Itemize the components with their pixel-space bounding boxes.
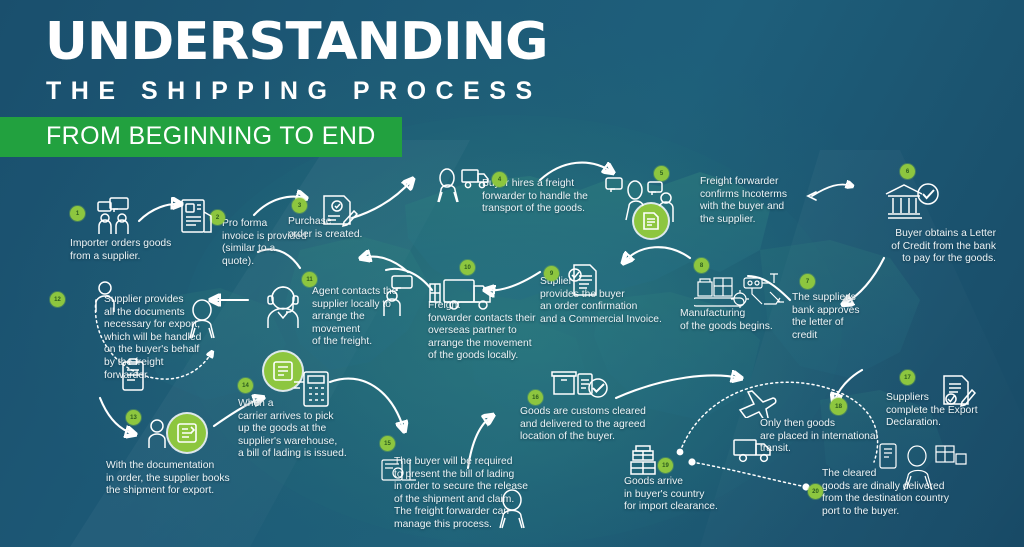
header: UNDERSTANDING THE SHIPPING PROCESS FROM …	[0, 0, 542, 157]
order-confirmation-icon	[566, 262, 602, 300]
step-19[interactable]: 19 Goods arrive in buyer's country for i…	[624, 442, 754, 514]
booking-shipment-icon	[168, 414, 206, 452]
person-truck-icon	[430, 160, 492, 204]
step-text-7: The supplier's bank approves the letter …	[792, 292, 884, 342]
step-10[interactable]: 10 Freight forwarder contacts their over…	[428, 262, 550, 363]
step-text-16: Goods are customs cleared and delivered …	[520, 406, 670, 444]
agent-headset-icon	[262, 282, 306, 330]
step-text-6: Buyer obtains a Letter of Credit from th…	[824, 228, 996, 266]
forwarder-person-icon	[494, 488, 530, 530]
step-20[interactable]: 20 The cleared goods are dinally deliver…	[808, 456, 986, 518]
supplier-booking-person-icon	[144, 418, 170, 450]
step-badge-15: 15	[380, 436, 395, 451]
step-text-9: Suplier provides the buyer an order conf…	[540, 276, 690, 326]
tagline: FROM BEGINNING TO END	[46, 122, 376, 151]
step-18[interactable]: 18 Only then goods are placed in interna…	[742, 396, 898, 456]
bill-presentation-icon	[380, 454, 420, 488]
step-15[interactable]: 15 The buyer will be required to present…	[380, 440, 560, 532]
page-subtitle: THE SHIPPING PROCESS	[0, 68, 542, 106]
step-badge-12: 12	[50, 292, 65, 307]
step-text-5: Freight forwarder confirms Incoterms wit…	[700, 176, 794, 226]
tagline-banner: FROM BEGINNING TO END	[0, 117, 402, 157]
two-people-chat-icon	[88, 196, 144, 236]
purchase-order-pen-icon	[318, 192, 360, 232]
supplier-person-speech-icon	[380, 274, 418, 318]
supplier-person-icon	[92, 280, 118, 314]
truck-cargo-icon	[428, 276, 498, 312]
step-badge-10: 10	[460, 260, 475, 275]
factory-robot-icon	[694, 266, 788, 312]
page-title: UNDERSTANDING	[0, 0, 552, 68]
step-7[interactable]: 7 The supplier's bank approves the lette…	[792, 282, 884, 342]
bank-check-icon	[882, 182, 942, 224]
customs-cleared-icon	[550, 366, 614, 400]
final-delivery-icon	[878, 442, 974, 494]
step-badge-17: 17	[900, 370, 915, 385]
step-badge-6: 6	[900, 164, 915, 179]
clipboard-documents-icon	[118, 358, 148, 392]
step-11[interactable]: 11 Agent contacts the supplier locally t…	[262, 272, 402, 349]
step-badge-13: 13	[126, 410, 141, 425]
freight-forwarder-person-icon	[184, 298, 220, 340]
step-badge-20: 20	[808, 484, 823, 499]
airplane-transit-icon	[734, 388, 782, 418]
step-badge-3: 3	[292, 198, 307, 213]
step-badge-16: 16	[528, 390, 543, 405]
export-declaration-icon	[938, 372, 978, 412]
step-5[interactable]: 5 Freight forwarder confirms Incoterms w…	[604, 162, 794, 226]
arriving-crate-icon	[628, 442, 662, 478]
step-badge-7: 7	[800, 274, 815, 289]
step-badge-14: 14	[238, 378, 253, 393]
step-17[interactable]: 17 Suppliers complete the Export Declara…	[886, 370, 1006, 430]
step-badge-18: 18	[830, 398, 847, 415]
step-16[interactable]: 16 Goods are customs cleared and deliver…	[520, 366, 670, 444]
step-3[interactable]: 3 Purchase order is created.	[288, 192, 408, 241]
step-12[interactable]: 12 Supplier provides all the documents n…	[50, 282, 210, 382]
step-text-19: Goods arrive in buyer's country for impo…	[624, 476, 754, 514]
step-14[interactable]: 14 When a carrier arrives to pick up the…	[238, 352, 398, 461]
invoice-document-icon	[180, 198, 214, 240]
step-6[interactable]: 6 Buyer obtains a Letter of Credit from …	[824, 164, 996, 266]
step-9[interactable]: 9 Suplier provides the buyer an order co…	[540, 262, 690, 326]
contract-highlight-icon	[634, 204, 668, 238]
step-text-13: With the documentation in order, the sup…	[106, 460, 266, 498]
step-badge-1: 1	[70, 206, 85, 221]
step-badge-4: 4	[492, 172, 507, 187]
step-4[interactable]: 4 Buyer hires a freight forwarder to han…	[430, 160, 610, 216]
calculator-document-icon	[292, 370, 334, 410]
step-8[interactable]: 8 Manufacturing of the goods begins.	[680, 258, 800, 333]
